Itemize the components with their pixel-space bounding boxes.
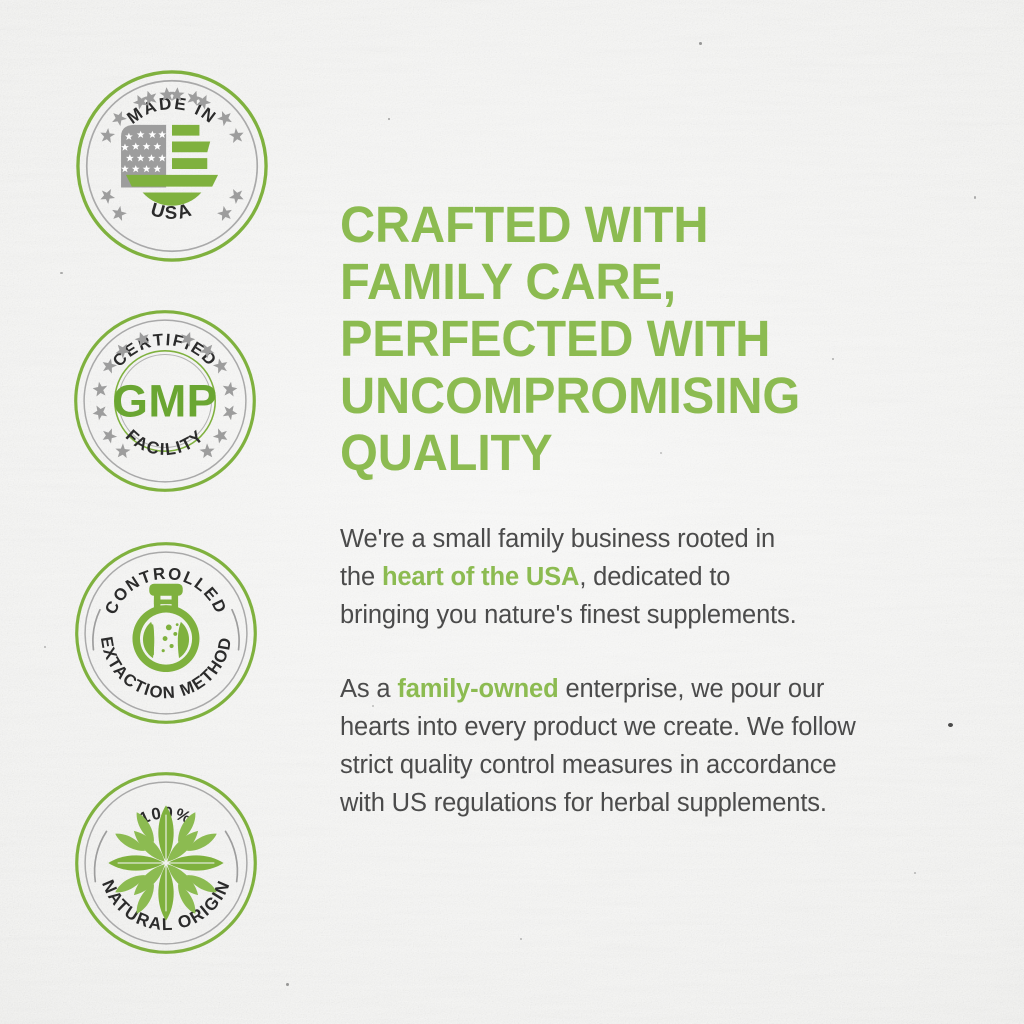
trust-badge-column: MADE IN USA	[0, 0, 340, 956]
leaf-flask-icon	[132, 584, 199, 672]
badge-natural-origin: 100% NATURAL ORIGIN	[73, 770, 259, 956]
badge-controlled-extraction: CONTROLLED EXTACTION METHOD	[73, 540, 259, 726]
poster-canvas: MADE IN USA	[0, 0, 1024, 1024]
page-headline: Crafted with family care, perfected with…	[340, 196, 875, 481]
badge-gmp-bottom-text: FACILITY	[122, 425, 208, 459]
badge-gmp-center-text: GMP	[113, 376, 218, 427]
intro-paragraph-1: We're a small family business rooted in …	[340, 520, 812, 634]
content-column: Crafted with family care, perfected with…	[340, 0, 1024, 822]
paragraph-1-highlight: heart of the USA	[382, 563, 579, 591]
badge-gmp-certified: CERTIFIED FACILITY	[72, 308, 258, 494]
paragraph-2-text-part-1: As a	[340, 675, 397, 703]
badge-made-in-usa: MADE IN USA	[74, 68, 270, 264]
intro-paragraph-2: As a family-owned enterprise, we pour ou…	[340, 670, 870, 822]
paragraph-2-highlight: family-owned	[397, 675, 558, 703]
usa-flag-shield-icon	[121, 125, 218, 206]
